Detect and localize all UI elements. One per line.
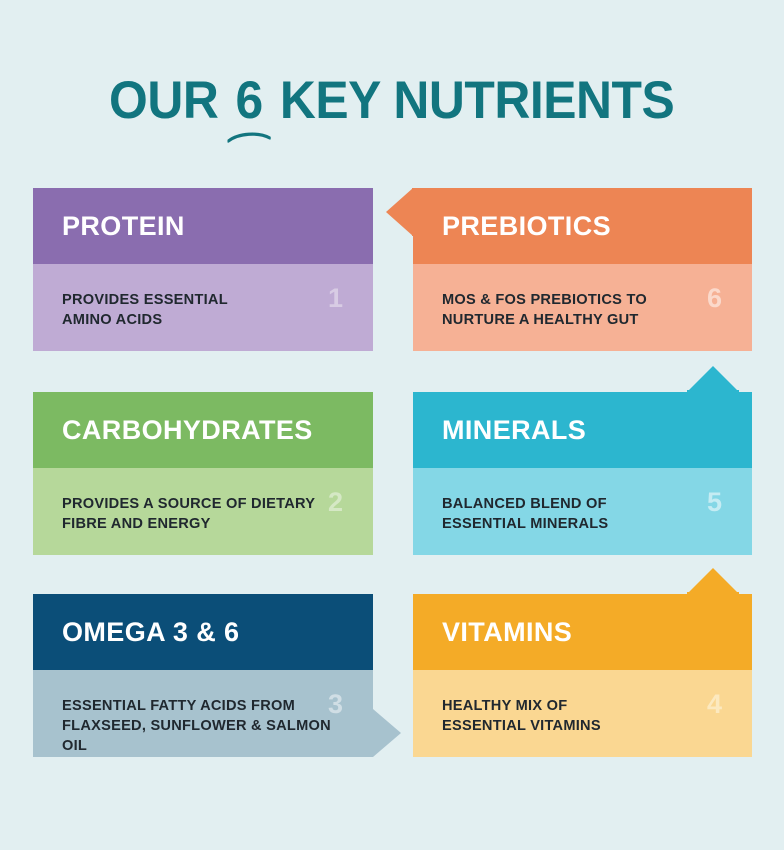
arrow-up-joint	[687, 390, 739, 396]
arrow-left-icon	[386, 188, 413, 236]
arrow-right-icon	[373, 709, 401, 757]
arrow-up-icon	[687, 366, 739, 392]
nutrient-card-carbohydrates[interactable]: CARBOHYDRATES PROVIDES A SOURCE OF DIETA…	[33, 392, 373, 555]
arrow-up-icon	[687, 568, 739, 594]
card-description-carbohydrates: PROVIDES A SOURCE OF DIETARY FIBRE AND E…	[62, 494, 349, 534]
nutrient-card-vitamins[interactable]: VITAMINS HEALTHY MIX OF ESSENTIAL VITAMI…	[413, 594, 752, 757]
card-header-prebiotics: PREBIOTICS	[413, 188, 752, 264]
card-title-carbohydrates: CARBOHYDRATES	[62, 415, 313, 446]
nutrient-card-protein[interactable]: PROTEIN PROVIDES ESSENTIAL AMINO ACIDS 1	[33, 188, 373, 351]
card-number-omega: 3	[328, 691, 343, 718]
card-title-vitamins: VITAMINS	[442, 617, 572, 648]
arrow-left-joint	[412, 188, 416, 236]
card-description-vitamins: HEALTHY MIX OF ESSENTIAL VITAMINS	[442, 696, 728, 736]
nutrient-card-prebiotics[interactable]: PREBIOTICS MOS & FOS PREBIOTICS TO NURTU…	[413, 188, 752, 351]
card-header-minerals: MINERALS	[413, 392, 752, 468]
nutrient-card-board: PROTEIN PROVIDES ESSENTIAL AMINO ACIDS 1…	[0, 0, 784, 850]
card-header-omega: OMEGA 3 & 6	[33, 594, 373, 670]
card-header-carbohydrates: CARBOHYDRATES	[33, 392, 373, 468]
card-description-prebiotics: MOS & FOS PREBIOTICS TO NURTURE A HEALTH…	[442, 290, 728, 330]
card-body-carbohydrates: PROVIDES A SOURCE OF DIETARY FIBRE AND E…	[33, 468, 373, 555]
card-title-prebiotics: PREBIOTICS	[442, 211, 611, 242]
card-description-protein: PROVIDES ESSENTIAL AMINO ACIDS	[62, 290, 349, 330]
card-number-prebiotics: 6	[707, 285, 722, 312]
card-title-minerals: MINERALS	[442, 415, 586, 446]
nutrient-card-minerals[interactable]: MINERALS BALANCED BLEND OF ESSENTIAL MIN…	[413, 392, 752, 555]
card-description-omega: ESSENTIAL FATTY ACIDS FROM FLAXSEED, SUN…	[62, 696, 349, 756]
card-header-protein: PROTEIN	[33, 188, 373, 264]
card-body-prebiotics: MOS & FOS PREBIOTICS TO NURTURE A HEALTH…	[413, 264, 752, 351]
card-body-omega: ESSENTIAL FATTY ACIDS FROM FLAXSEED, SUN…	[33, 670, 373, 757]
nutrient-card-omega[interactable]: OMEGA 3 & 6 ESSENTIAL FATTY ACIDS FROM F…	[33, 594, 373, 757]
card-number-protein: 1	[328, 285, 343, 312]
card-number-carbohydrates: 2	[328, 489, 343, 516]
card-body-vitamins: HEALTHY MIX OF ESSENTIAL VITAMINS 4	[413, 670, 752, 757]
card-number-minerals: 5	[707, 489, 722, 516]
card-header-vitamins: VITAMINS	[413, 594, 752, 670]
card-title-omega: OMEGA 3 & 6	[62, 617, 239, 648]
card-description-minerals: BALANCED BLEND OF ESSENTIAL MINERALS	[442, 494, 728, 534]
card-body-protein: PROVIDES ESSENTIAL AMINO ACIDS 1	[33, 264, 373, 351]
card-number-vitamins: 4	[707, 691, 722, 718]
card-body-minerals: BALANCED BLEND OF ESSENTIAL MINERALS 5	[413, 468, 752, 555]
card-title-protein: PROTEIN	[62, 211, 185, 242]
arrow-up-joint	[687, 592, 739, 598]
